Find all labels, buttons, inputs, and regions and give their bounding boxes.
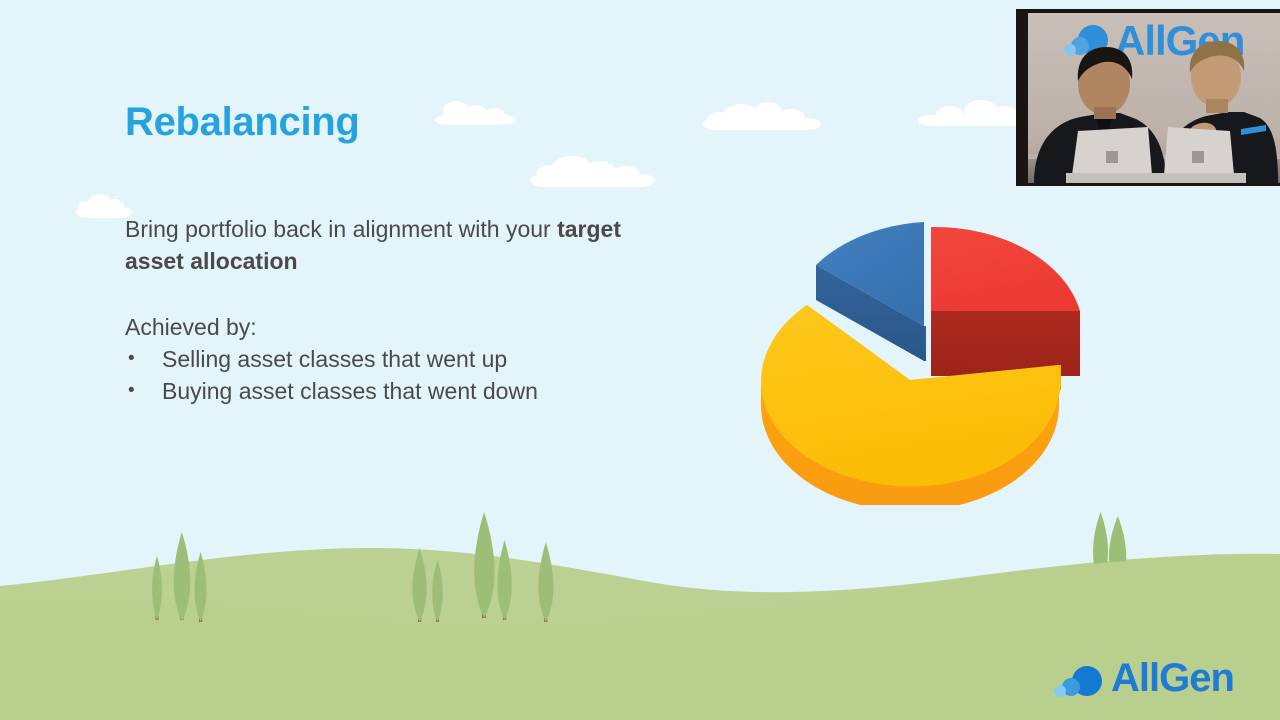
webcam-overlay[interactable]: AllGen	[1016, 9, 1280, 186]
bullet-marker-icon: •	[128, 343, 135, 375]
page-title: Rebalancing	[125, 100, 360, 145]
lead-text-normal: Bring portfolio back in alignment with y…	[125, 216, 557, 242]
laptop-right-base	[1158, 173, 1246, 183]
logo-mark	[1053, 666, 1107, 698]
laptop-left-logo	[1106, 151, 1118, 163]
bullet-list: • Selling asset classes that went up • B…	[125, 343, 685, 407]
logo-circle-light-icon	[1064, 44, 1076, 56]
brand-logo: AllGen	[1053, 658, 1233, 706]
achieved-by-label: Achieved by:	[125, 311, 257, 343]
list-item-label: Selling asset classes that went up	[162, 346, 507, 372]
bullet-marker-icon: •	[128, 375, 135, 407]
pie-slice-top-red	[931, 227, 1080, 311]
list-item: • Selling asset classes that went up	[125, 343, 685, 375]
pie-slice-side-blue-right	[924, 326, 926, 361]
brand-logo-text: AllGen	[1111, 656, 1234, 701]
webcam-laptop-left	[1066, 127, 1160, 183]
person-left-neck	[1094, 107, 1116, 119]
list-item-label: Buying asset classes that went down	[162, 378, 538, 404]
logo-circle-light-icon	[1054, 685, 1066, 697]
laptop-right-logo	[1192, 151, 1204, 163]
list-item: • Buying asset classes that went down	[125, 375, 685, 407]
person-right-neck	[1206, 99, 1228, 113]
lead-paragraph: Bring portfolio back in alignment with y…	[125, 213, 645, 277]
laptop-left-base	[1066, 173, 1160, 183]
pie-chart	[740, 205, 1110, 505]
slide-stage: Rebalancing Bring portfolio back in alig…	[0, 0, 1280, 720]
